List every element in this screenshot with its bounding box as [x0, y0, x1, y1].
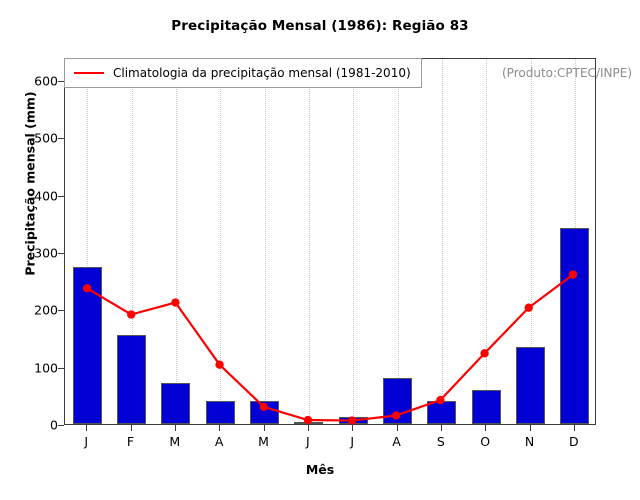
- x-tick-mark: [131, 425, 132, 431]
- legend: Climatologia da precipitação mensal (198…: [64, 58, 422, 88]
- x-axis-tick-labels: JFMAMJJASOND: [64, 434, 596, 454]
- x-tick-label-10: N: [510, 434, 550, 449]
- data-point-marker: [569, 270, 577, 278]
- x-tick-mark: [264, 425, 265, 431]
- data-point-marker: [171, 298, 179, 306]
- x-tick-label-11: D: [554, 434, 594, 449]
- x-tick-label-7: A: [377, 434, 417, 449]
- x-tick-label-0: J: [66, 434, 106, 449]
- x-tick-mark: [219, 425, 220, 431]
- x-tick-label-1: F: [111, 434, 151, 449]
- x-tick-mark: [86, 425, 87, 431]
- x-axis-label: Mês: [0, 462, 640, 477]
- x-tick-mark: [574, 425, 575, 431]
- data-point-marker: [127, 310, 135, 318]
- chart-figure: Precipitação Mensal (1986): Região 83 Pr…: [0, 0, 640, 500]
- x-tick-label-9: O: [465, 434, 505, 449]
- data-point-marker: [392, 411, 400, 419]
- y-tick-label: 100: [12, 360, 58, 375]
- x-tick-label-6: J: [332, 434, 372, 449]
- y-tick-label: 400: [12, 188, 58, 203]
- y-axis-tick-labels: 0100200300400500600: [8, 58, 58, 425]
- data-point-marker: [215, 361, 223, 369]
- x-tick-mark: [441, 425, 442, 431]
- y-tick-label: 500: [12, 131, 58, 146]
- data-point-marker: [260, 403, 268, 411]
- legend-line-swatch: [74, 72, 104, 74]
- y-tick-label: 0: [12, 418, 58, 433]
- climatology-line: [87, 275, 573, 421]
- page-title: Precipitação Mensal (1986): Região 83: [0, 18, 640, 34]
- data-point-marker: [83, 284, 91, 292]
- x-tick-mark: [530, 425, 531, 431]
- y-tick-label: 300: [12, 245, 58, 260]
- x-tick-mark: [397, 425, 398, 431]
- legend-entry-label: Climatologia da precipitação mensal (198…: [113, 66, 411, 80]
- y-tick-label: 600: [12, 73, 58, 88]
- climatology-markers: [83, 270, 577, 424]
- data-point-marker: [348, 416, 356, 424]
- line-series-climatology: [65, 59, 595, 424]
- data-point-marker: [304, 416, 312, 424]
- x-tick-label-8: S: [421, 434, 461, 449]
- x-tick-mark: [308, 425, 309, 431]
- x-tick-label-5: J: [288, 434, 328, 449]
- x-tick-mark: [485, 425, 486, 431]
- x-axis-tick-marks: [64, 425, 596, 432]
- y-tick-label: 200: [12, 303, 58, 318]
- x-tick-mark: [175, 425, 176, 431]
- x-tick-label-4: M: [244, 434, 284, 449]
- x-tick-label-3: A: [199, 434, 239, 449]
- source-watermark: (Produto:CPTEC/INPE): [502, 66, 632, 80]
- data-point-marker: [436, 396, 444, 404]
- plot-area: [64, 58, 596, 425]
- data-point-marker: [525, 303, 533, 311]
- x-tick-label-2: M: [155, 434, 195, 449]
- data-point-marker: [480, 349, 488, 357]
- x-tick-mark: [352, 425, 353, 431]
